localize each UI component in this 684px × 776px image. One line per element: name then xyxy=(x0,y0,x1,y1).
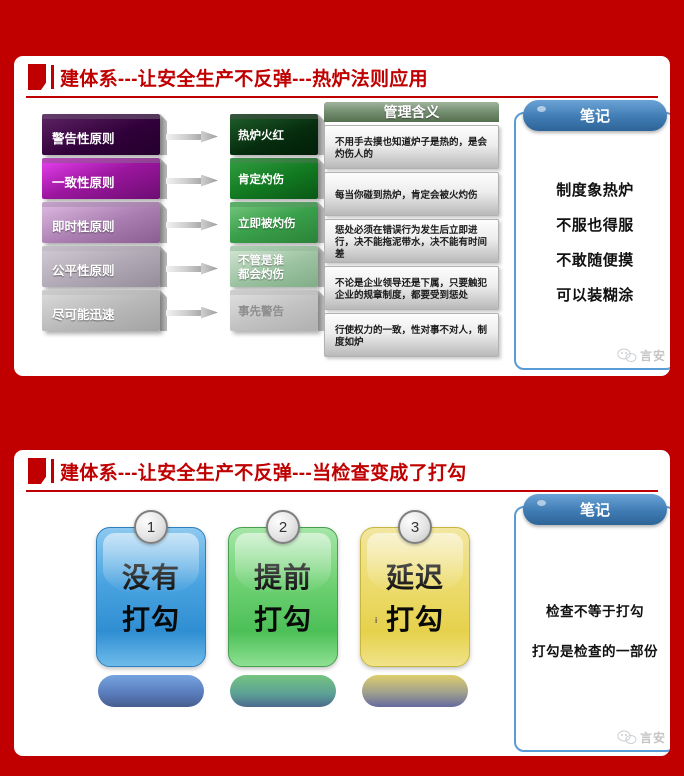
notes-panel: 笔记 制度象热炉 不服也得服 不敢随便摸 可以装糊涂 言安 xyxy=(514,112,670,370)
meaning-box: 不用手去摸也知道炉子是热的，是会灼伤人的 xyxy=(324,125,499,169)
principle-box: 即时性原则 xyxy=(42,202,160,243)
arrow-cell xyxy=(166,290,230,334)
principle-box: 尽可能迅速 xyxy=(42,290,160,331)
note-line: 检查不等于打勾 xyxy=(546,600,644,620)
notes-body: 制度象热炉 不服也得服 不敢随便摸 可以装糊涂 xyxy=(516,142,670,342)
effect-box: 肯定灼伤 xyxy=(230,158,318,199)
arrow-cell xyxy=(166,246,230,290)
right-arrow-icon xyxy=(166,263,218,274)
card-number-badge: 1 xyxy=(134,510,168,544)
wechat-icon xyxy=(617,730,637,745)
meaning-column: 管理含义 不用手去摸也知道炉子是热的，是会灼伤人的 每当你碰到热炉，肯定会被火灼… xyxy=(324,102,499,360)
effect-box: 事先警告 xyxy=(230,290,318,331)
arrow-cell xyxy=(166,114,230,158)
card-face: i 延迟 打勾 xyxy=(360,527,470,667)
slide-hot-stove-rule: 建体系---让安全生产不反弹---热炉法则应用 警告性原则 一致性原则 即时性原… xyxy=(14,56,670,376)
slide1-title-row: 建体系---让安全生产不反弹---热炉法则应用 xyxy=(14,56,670,98)
notes-body: 检查不等于打勾 打勾是检查的一部份 xyxy=(516,536,670,724)
arrow-cell xyxy=(166,202,230,246)
right-arrow-icon xyxy=(166,175,218,186)
card-face: 提前 打勾 xyxy=(228,527,338,667)
notes-panel: 笔记 检查不等于打勾 打勾是检查的一部份 言安 xyxy=(514,506,670,752)
title-divider xyxy=(51,459,54,483)
right-arrow-icon xyxy=(166,307,218,318)
card-number-badge: 3 xyxy=(398,510,432,544)
watermark-text: 言安 xyxy=(640,729,666,746)
right-arrow-icon xyxy=(166,219,218,230)
principle-box: 警告性原则 xyxy=(42,114,160,155)
card-line-2: 打勾 xyxy=(386,598,444,638)
page-title: 建体系---让安全生产不反弹---当检查变成了打勾 xyxy=(60,458,466,485)
meaning-box: 不论是企业领导还是下属，只要触犯企业的规章制度，都要受到惩处 xyxy=(324,266,499,310)
watermark: 言安 xyxy=(617,729,666,746)
note-line: 不敢随便摸 xyxy=(556,249,634,270)
slide2-title-row: 建体系---让安全生产不反弹---当检查变成了打勾 xyxy=(14,450,670,492)
watermark-text: 言安 xyxy=(640,347,666,364)
wechat-icon xyxy=(617,348,637,363)
slide2-body: 1 没有 打勾 2 提前 打勾 3 xyxy=(14,492,670,756)
card-line-1: 没有 xyxy=(122,556,180,596)
note-line: 打勾是检查的一部份 xyxy=(532,640,658,660)
meaning-box: 每当你碰到热炉，肯定会被火灼伤 xyxy=(324,172,499,216)
effect-stack: 热炉火红 肯定灼伤 立即被灼伤 不管是谁 都会灼伤 事先警告 xyxy=(230,114,318,334)
stray-mark: i xyxy=(375,616,378,625)
note-line: 可以装糊涂 xyxy=(556,284,634,305)
card-line-2: 打勾 xyxy=(254,598,312,638)
page-title: 建体系---让安全生产不反弹---热炉法则应用 xyxy=(60,64,428,91)
arrow-cell xyxy=(166,158,230,202)
principle-box: 公平性原则 xyxy=(42,246,160,287)
notes-header: 笔记 xyxy=(523,494,667,525)
flag-icon xyxy=(28,458,46,484)
effect-box: 热炉火红 xyxy=(230,114,318,155)
effect-box: 立即被灼伤 xyxy=(230,202,318,243)
note-line: 不服也得服 xyxy=(556,214,634,235)
card-line-2: 打勾 xyxy=(122,598,180,638)
effect-box: 不管是谁 都会灼伤 xyxy=(230,246,318,287)
flag-icon xyxy=(28,64,46,90)
meaning-box: 行使权力的一致，性对事不对人，制度如炉 xyxy=(324,313,499,357)
card-line-1: 提前 xyxy=(254,556,312,596)
card-reflection xyxy=(230,675,336,707)
card-reflection xyxy=(362,675,468,707)
right-arrow-icon xyxy=(166,131,218,142)
principle-box: 一致性原则 xyxy=(42,158,160,199)
arrow-column xyxy=(166,114,230,334)
card-line-1: 延迟 xyxy=(386,556,444,596)
card-reflection xyxy=(98,675,204,707)
note-line: 制度象热炉 xyxy=(556,179,634,200)
slide1-body: 警告性原则 一致性原则 即时性原则 公平性原则 尽可能迅速 热炉火红 肯定灼伤 … xyxy=(14,98,670,376)
watermark: 言安 xyxy=(617,347,666,364)
meaning-header: 管理含义 xyxy=(324,102,499,122)
slide-check-becomes-tick: 建体系---让安全生产不反弹---当检查变成了打勾 1 没有 打勾 2 提前 xyxy=(14,450,670,756)
page-root: 建体系---让安全生产不反弹---热炉法则应用 警告性原则 一致性原则 即时性原… xyxy=(0,0,684,776)
principle-stack: 警告性原则 一致性原则 即时性原则 公平性原则 尽可能迅速 xyxy=(42,114,160,334)
meaning-box: 惩处必须在错误行为发生后立即进行，决不能拖泥带水，决不能有时间差 xyxy=(324,219,499,263)
notes-header: 笔记 xyxy=(523,100,667,131)
card-face: 没有 打勾 xyxy=(96,527,206,667)
title-divider xyxy=(51,65,54,89)
card-number-badge: 2 xyxy=(266,510,300,544)
